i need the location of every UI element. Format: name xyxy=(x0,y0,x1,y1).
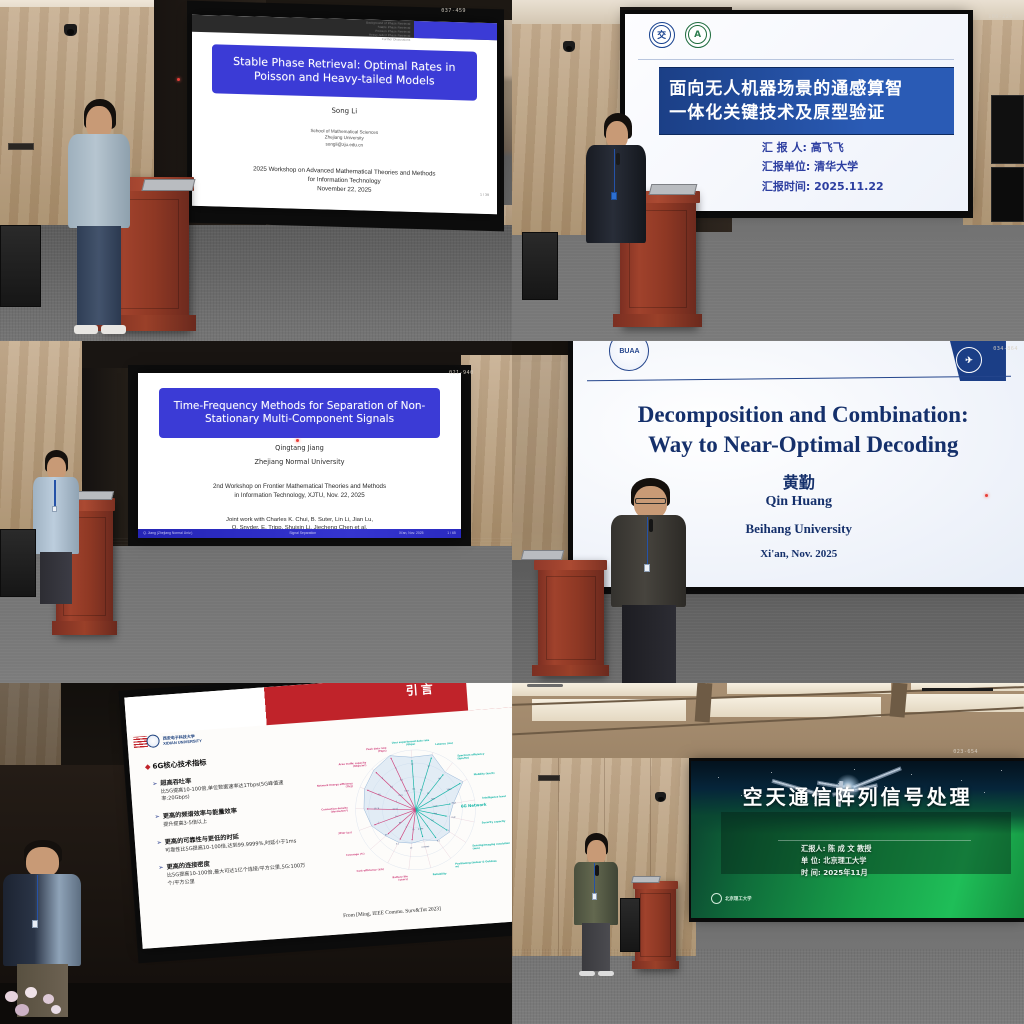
university-seal-icon: 交 xyxy=(649,22,675,48)
slide-author: Qingtang Jiang xyxy=(154,444,444,452)
projection-screen: Time-Frequency Methods for Separation of… xyxy=(138,373,461,537)
speaker-person xyxy=(64,99,136,334)
svg-text:(bps/Hz): (bps/Hz) xyxy=(457,757,469,761)
svg-text:(Tb/J): (Tb/J) xyxy=(345,785,353,789)
slide-title: 空天通信阵列信号处理 xyxy=(691,761,1024,810)
slide-affiliation: Zhejiang Normal University xyxy=(154,458,444,466)
svg-text:0.99999: 0.99999 xyxy=(422,847,431,850)
svg-text:Intelligence level: Intelligence level xyxy=(482,795,506,800)
flag-stripes-icon xyxy=(133,736,148,748)
floor-speaker xyxy=(0,529,36,597)
svg-text:Reliability: Reliability xyxy=(433,873,447,877)
university-seal-icon: BUAA xyxy=(609,341,649,371)
photo-grid: Background of Phase Retrieval Stable Pha… xyxy=(0,0,1024,1024)
radar-chart: 0.11100.111030905001000LowHighlowhigh101… xyxy=(310,720,512,901)
speaker-person xyxy=(584,113,651,318)
name-badge xyxy=(32,920,38,928)
svg-text:m): m) xyxy=(455,866,459,869)
frame-id-badge: 034-864 xyxy=(993,346,1018,352)
svg-text:(Gbps/m²): (Gbps/m²) xyxy=(353,764,367,768)
panel-time-frequency: Time-Frequency Methods for Separation of… xyxy=(0,341,512,683)
slide-header: 引言 xyxy=(405,683,436,699)
speaker-person xyxy=(573,833,619,976)
name-badge xyxy=(52,506,57,512)
name-badge xyxy=(592,893,597,900)
society-badge-icon: A xyxy=(685,22,711,48)
svg-text:(years): (years) xyxy=(398,878,408,882)
speaker-person xyxy=(31,450,82,604)
podium xyxy=(538,560,605,676)
svg-text:Latency (ms): Latency (ms) xyxy=(435,742,453,746)
svg-text:Coverage (%): Coverage (%) xyxy=(346,853,365,857)
ceiling-camera-icon xyxy=(563,41,575,52)
bullet-item: ➢更高的频谱效率与能量效率 提升提高3-5倍以上 xyxy=(148,801,305,831)
svg-text:0.1: 0.1 xyxy=(396,844,400,846)
svg-text:Jitter (μs): Jitter (μs) xyxy=(338,832,352,836)
frame-id-badge: 023-654 xyxy=(953,749,978,755)
svg-text:0.02: 0.02 xyxy=(405,791,409,793)
ceiling-camera-icon xyxy=(64,24,77,36)
svg-text:6G Network: 6G Network xyxy=(461,802,487,809)
flower-arrangement xyxy=(0,983,82,1024)
svg-text:(Tbps): (Tbps) xyxy=(378,750,387,754)
projection-screen: 引言 西安电子科技大学 XIDIAN UNIVERSITY ◆6G核心技术指标 xyxy=(124,683,512,949)
chart-source: From [Ming, IEEE Commu. Surv&Tut 2023] xyxy=(343,906,441,919)
floor-speaker xyxy=(620,898,640,953)
laptop xyxy=(631,876,661,883)
panel-phase-retrieval: Background of Phase Retrieval Stable Pha… xyxy=(0,0,512,341)
org-emblem-icon xyxy=(711,893,722,904)
svg-text:(device/km²): (device/km²) xyxy=(331,810,348,814)
slide-title: 面向无人机器场景的通感算智 一体化关键技术及原型验证 xyxy=(659,67,954,135)
slide-event: 2025 Workshop on Advanced Mathematical T… xyxy=(207,164,481,199)
laptop xyxy=(649,184,698,195)
projection-screen: Background of Phase Retrieval Stable Pha… xyxy=(192,14,497,213)
panel-space-air-comm: 空天通信阵列信号处理 汇报人: 陈 成 文 教授 单 位: 北京理工大学 时 间… xyxy=(512,683,1024,1024)
slide-meta: 汇 报 人: 高飞飞 汇报单位: 清华大学 汇报时间: 2025.11.22 xyxy=(762,138,884,196)
slide-logos: 交 A xyxy=(649,22,711,48)
floor-speaker xyxy=(0,225,41,307)
frame-id-badge: 037-459 xyxy=(441,8,466,14)
slide-event: 2nd Workshop on Frontier Mathematical Th… xyxy=(154,483,444,501)
frame-id-badge: 100-226 xyxy=(988,14,1013,20)
svg-text:Security capacity: Security capacity xyxy=(482,820,506,825)
bullet-item: ➢更高的可靠性与更低的时延 可靠性比5G提高10-100倍,达到99.9999%… xyxy=(150,826,307,856)
led-video-wall: 空天通信阵列信号处理 汇报人: 陈 成 文 教授 单 位: 北京理工大学 时 间… xyxy=(691,761,1024,918)
svg-text:(Gbps): (Gbps) xyxy=(406,743,415,747)
slide-title: Decomposition and Combination: Way to Ne… xyxy=(600,400,1006,461)
slide-title: Time-Frequency Methods for Separation of… xyxy=(159,388,440,437)
org-logo: 北京理工大学 xyxy=(711,893,751,904)
university-emblem-icon xyxy=(147,734,161,748)
laptop xyxy=(142,179,196,191)
wall-control-plate xyxy=(8,143,34,150)
svg-text:Mobility (km/h): Mobility (km/h) xyxy=(474,772,495,777)
panel-uav-isac: 交 A 面向无人机器场景的通感算智 一体化关键技术及原型验证 汇 报 人: 高飞… xyxy=(512,0,1024,341)
panel-decomposition: BUAA ✈ Decomposition and Combination: Wa… xyxy=(512,341,1024,683)
name-badge xyxy=(644,564,650,572)
frame-id-badge: 021-940 xyxy=(449,370,474,376)
wall-control-plate xyxy=(538,775,560,781)
svg-text:Cost-efficiency (¢/b): Cost-efficiency (¢/b) xyxy=(357,868,385,873)
slide-title: Stable Phase Retrieval: Optimal Rates in… xyxy=(212,44,477,101)
svg-text:0.1: 0.1 xyxy=(437,841,441,843)
floor-speaker xyxy=(522,232,558,300)
svg-text:High: High xyxy=(452,803,457,805)
name-badge xyxy=(611,192,617,200)
slide-author: Song Li xyxy=(207,103,481,119)
panel-6g-metrics: 引言 西安电子科技大学 XIDIAN UNIVERSITY ◆6G核心技术指标 xyxy=(0,683,512,1024)
slide-page-number: 1 / 39 xyxy=(480,192,489,196)
university-logo: 西安电子科技大学 XIDIAN UNIVERSITY xyxy=(147,731,202,748)
svg-text:Positioning (Indoor & Outdoor,: Positioning (Indoor & Outdoor, xyxy=(455,860,497,866)
svg-text:20: 20 xyxy=(410,848,413,850)
bullet-item: ➢更高的连接密度 比5G提高10-100倍,最大可达1亿个连接/平方公里,5G:… xyxy=(152,852,309,890)
bullet-item: ➢超高吞吐率 比5G提高10-100倍,单位数据速率达1Tbps(5G峰值速率:… xyxy=(146,767,303,805)
laptop xyxy=(521,550,565,560)
speaker-person xyxy=(609,478,691,683)
slide-footer: Q. Jiang (Zhejiang Normal Univ.) Signal … xyxy=(138,529,461,538)
svg-text:high: high xyxy=(452,817,457,819)
slide-meta: 汇报人: 陈 成 文 教授 单 位: 北京理工大学 时 间: 2025年11月 xyxy=(801,843,871,880)
svg-text:(mm): (mm) xyxy=(472,847,480,851)
projection-screen: 交 A 面向无人机器场景的通感算智 一体化关键技术及原型验证 汇 报 人: 高飞… xyxy=(625,14,968,212)
podium xyxy=(635,881,676,970)
slide-affiliation: School of Mathematical Sciences Zhejiang… xyxy=(207,124,481,152)
